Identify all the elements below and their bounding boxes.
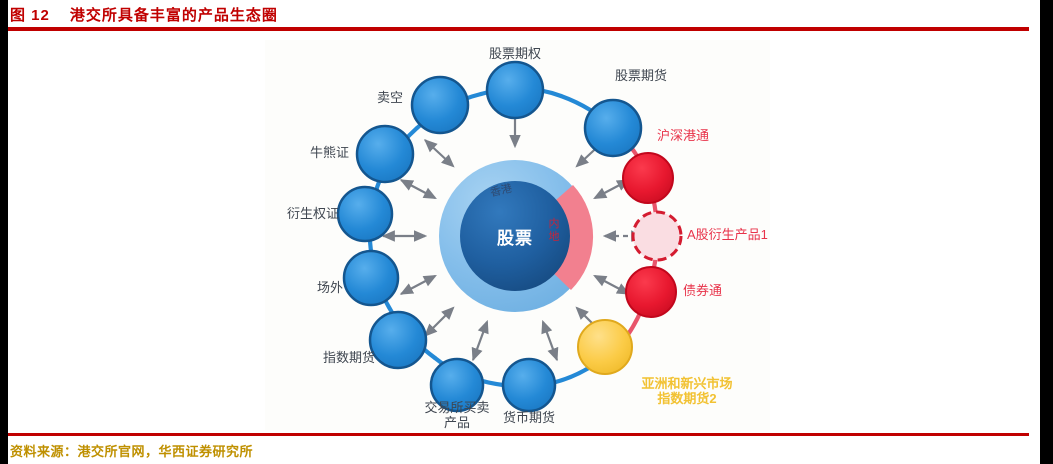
label-stock-option: 股票期权 bbox=[459, 46, 571, 61]
label-etp-line1: 交易所买卖 bbox=[424, 400, 489, 415]
figure-title: 图 12港交所具备丰富的产品生态圈 bbox=[10, 4, 278, 25]
node-a-share-derivatives bbox=[633, 212, 681, 260]
node-bond-connect bbox=[626, 267, 676, 317]
node-asia-em-index-futures bbox=[578, 320, 632, 374]
radial-arrow bbox=[425, 140, 453, 166]
label-bond-connect: 债券通 bbox=[683, 283, 770, 298]
title-rule bbox=[8, 27, 1029, 31]
label-short-sell: 卖空 bbox=[343, 90, 403, 105]
label-otc: 场外 bbox=[283, 280, 343, 295]
label-index-future: 指数期货 bbox=[285, 350, 375, 365]
page-border-left bbox=[0, 0, 8, 464]
page-root: 图 12港交所具备丰富的产品生态圈 bbox=[0, 0, 1053, 464]
label-dw: 衍生权证 bbox=[265, 206, 339, 221]
label-etp-line2: 产品 bbox=[444, 415, 470, 430]
label-asia-em-index-futures: 亚洲和新兴市场 指数期货2 bbox=[617, 376, 757, 406]
label-asia-em-line2: 指数期货2 bbox=[657, 391, 716, 406]
node-index-future bbox=[370, 312, 426, 368]
label-stock-connect: 沪深港通 bbox=[657, 128, 769, 143]
node-otc bbox=[344, 251, 398, 305]
node-short-sell bbox=[412, 77, 468, 133]
radial-arrow bbox=[401, 180, 435, 198]
label-a-share-derivatives: A股衍生产品1 bbox=[687, 227, 770, 242]
radial-arrow bbox=[595, 276, 629, 294]
source-rule bbox=[8, 433, 1029, 436]
page-border-right bbox=[1040, 0, 1053, 464]
label-cbbc: 牛熊证 bbox=[273, 145, 349, 160]
source-note: 资料来源：港交所官网，华西证券研究所 bbox=[10, 441, 253, 460]
radial-arrow bbox=[401, 276, 435, 294]
node-cbbc bbox=[357, 126, 413, 182]
center-stock-label: 股票 bbox=[479, 224, 551, 249]
radial-arrow bbox=[473, 322, 487, 360]
radial-arrow bbox=[543, 322, 557, 360]
node-stock-connect bbox=[623, 153, 673, 203]
radial-arrow bbox=[425, 308, 453, 336]
label-asia-em-line1: 亚洲和新兴市场 bbox=[641, 376, 732, 391]
label-stock-future: 股票期货 bbox=[585, 68, 697, 83]
figure-number: 图 12 bbox=[10, 7, 50, 24]
center-mainland-label: 内地 bbox=[547, 218, 561, 244]
node-dw bbox=[338, 187, 392, 241]
node-stock-future bbox=[585, 100, 641, 156]
ecosystem-diagram: 香港 股票 内地 股票期权 股票期货 沪深港通 A股衍生产品1 债券通 亚洲和新… bbox=[265, 40, 770, 430]
figure-title-text: 港交所具备丰富的产品生态圈 bbox=[70, 7, 278, 24]
node-stock-option bbox=[487, 62, 543, 118]
label-etp: 交易所买卖 产品 bbox=[401, 400, 513, 430]
